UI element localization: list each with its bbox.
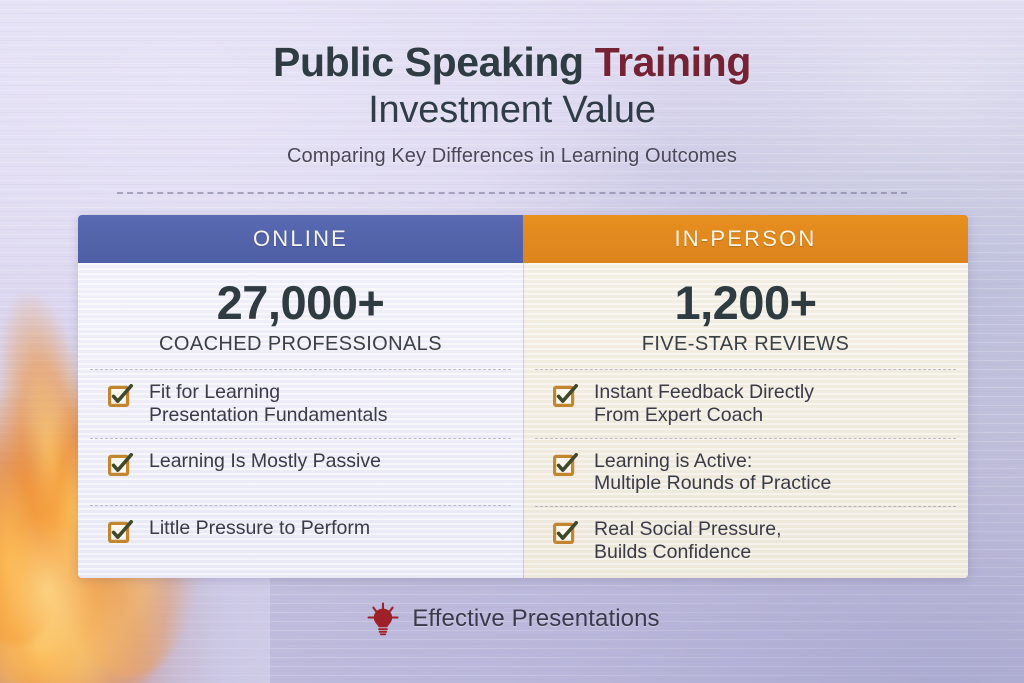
list-item-text: Learning Is Mostly Passive (149, 450, 381, 473)
lightbulb-icon (364, 600, 402, 638)
infographic-canvas: Public Speaking Training Investment Valu… (0, 0, 1024, 683)
page-title-accent: Training (595, 39, 751, 85)
column-body-online: 27,000+ COACHED PROFESSIONALS Fit for Le… (78, 263, 523, 578)
page-title: Public Speaking Training (0, 40, 1024, 84)
page-tagline: Comparing Key Differences in Learning Ou… (0, 145, 1024, 168)
title-block: Public Speaking Training Investment Valu… (0, 40, 1024, 168)
list-item[interactable]: Learning Is Mostly Passive (78, 439, 523, 505)
list-item[interactable]: Little Pressure to Perform (78, 506, 523, 572)
column-body-inperson: 1,200+ FIVE-STAR REVIEWS Instant Feedbac… (523, 263, 968, 578)
column-online: ONLINE 27,000+ COACHED PROFESSIONALS (78, 215, 523, 578)
list-item-text: Learning is Active: Multiple Rounds of P… (594, 450, 831, 496)
list-item[interactable]: Instant Feedback Directly From Expert Co… (523, 370, 968, 438)
checkbox-checked-icon (108, 520, 134, 543)
page-title-prefix: Public Speaking (273, 39, 595, 85)
checkbox-checked-icon (553, 453, 579, 476)
column-header-inperson: IN-PERSON (523, 215, 968, 263)
column-inperson: IN-PERSON 1,200+ FIVE-STAR REVIEWS (523, 215, 968, 578)
list-item[interactable]: Real Social Pressure, Builds Confidence (523, 507, 968, 575)
footer-brand[interactable]: Effective Presentations (0, 600, 1024, 638)
feature-list-inperson: Instant Feedback Directly From Expert Co… (523, 369, 968, 575)
list-item-text: Fit for Learning Presentation Fundamenta… (149, 381, 387, 427)
stat-block-inperson: 1,200+ FIVE-STAR REVIEWS (523, 263, 968, 356)
footer-brand-text: Effective Presentations (412, 605, 659, 633)
header-divider (117, 192, 907, 194)
checkbox-checked-icon (108, 453, 134, 476)
feature-list-online: Fit for Learning Presentation Fundamenta… (78, 369, 523, 572)
stat-label: COACHED PROFESSIONALS (78, 333, 523, 356)
stat-block-online: 27,000+ COACHED PROFESSIONALS (78, 263, 523, 356)
checkbox-checked-icon (108, 384, 134, 407)
list-item-text: Real Social Pressure, Builds Confidence (594, 518, 782, 564)
page-subtitle-line: Investment Value (0, 90, 1024, 132)
list-item[interactable]: Learning is Active: Multiple Rounds of P… (523, 439, 968, 507)
comparison-card: ONLINE 27,000+ COACHED PROFESSIONALS (78, 215, 968, 578)
list-item-text: Instant Feedback Directly From Expert Co… (594, 381, 814, 427)
stat-label: FIVE-STAR REVIEWS (523, 333, 968, 356)
stat-number: 27,000+ (78, 279, 523, 326)
list-item-text: Little Pressure to Perform (149, 517, 370, 540)
checkbox-checked-icon (553, 521, 579, 544)
column-header-online: ONLINE (78, 215, 523, 263)
checkbox-checked-icon (553, 384, 579, 407)
column-divider (523, 263, 524, 578)
list-item[interactable]: Fit for Learning Presentation Fundamenta… (78, 370, 523, 438)
stat-number: 1,200+ (523, 279, 968, 326)
